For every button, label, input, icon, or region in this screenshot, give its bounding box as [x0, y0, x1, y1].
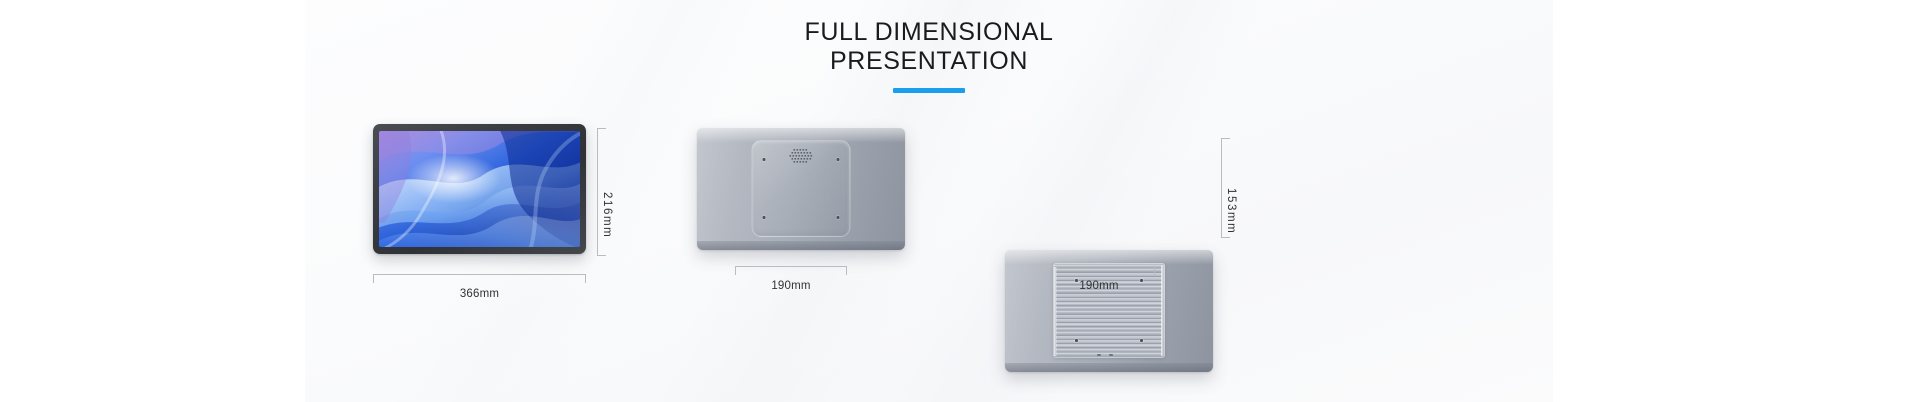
dimension-height-front: 216mm — [597, 128, 623, 256]
product-front-display — [373, 124, 586, 254]
dimension-cap-right — [585, 274, 586, 283]
dimension-line — [1221, 138, 1222, 238]
dimension-cap-left — [373, 274, 374, 283]
heatsink-edge-right — [1161, 265, 1164, 356]
dimension-cap-top — [1221, 138, 1230, 139]
display-bezel — [373, 124, 586, 254]
screw-hole-icon — [763, 158, 766, 161]
dimension-cap-bottom — [1221, 237, 1230, 238]
rear-housing-body — [697, 128, 905, 250]
dimensional-presentation-banner: FULL DIMENSIONAL PRESENTATION — [0, 0, 1920, 402]
display-screen — [379, 131, 580, 247]
dimension-cap-left — [735, 266, 736, 275]
dimension-width-front: 366mm — [373, 274, 586, 304]
screw-hole-icon — [1075, 339, 1078, 342]
product-row: 366mm 216mm 190mm 190mm — [305, 110, 1553, 340]
dimension-label-153mm: 153mm — [1225, 188, 1237, 234]
screw-hole-icon — [763, 216, 766, 219]
dimension-depth-mid: 190mm — [735, 266, 847, 296]
port-indicator-icon — [1109, 354, 1113, 356]
dimension-cap-bottom — [597, 255, 606, 256]
dimension-cap-right — [1154, 266, 1155, 275]
header-block: FULL DIMENSIONAL PRESENTATION — [305, 18, 1553, 93]
dimension-line — [735, 266, 847, 267]
port-indicator-icon — [1097, 354, 1101, 356]
dimension-label-190mm-right: 190mm — [1043, 280, 1155, 292]
speaker-grille-icon — [784, 148, 818, 166]
product-rear-housing — [697, 128, 905, 250]
screen-wallpaper-icon — [379, 131, 580, 247]
dimension-line — [597, 128, 598, 256]
dimension-label-190mm-mid: 190mm — [735, 280, 847, 292]
dimension-label-216mm: 216mm — [601, 192, 613, 238]
dimension-line — [373, 274, 586, 275]
dimension-height-right: 153mm — [1221, 138, 1247, 238]
dimension-cap-top — [597, 128, 606, 129]
content-panel: FULL DIMENSIONAL PRESENTATION — [305, 0, 1553, 402]
dimension-label-366mm: 366mm — [373, 288, 586, 300]
page-title-line-2: PRESENTATION — [305, 47, 1553, 76]
screw-hole-icon — [837, 158, 840, 161]
dimension-cap-right — [846, 266, 847, 275]
vesa-mount-plate — [752, 140, 851, 237]
screw-hole-icon — [837, 216, 840, 219]
screw-hole-icon — [1140, 339, 1143, 342]
page-title-line-1: FULL DIMENSIONAL — [305, 18, 1553, 47]
dimension-line — [1043, 266, 1155, 267]
dimension-depth-right: 190mm — [1043, 266, 1155, 296]
dimension-cap-left — [1043, 266, 1044, 275]
title-accent-bar — [893, 88, 965, 93]
